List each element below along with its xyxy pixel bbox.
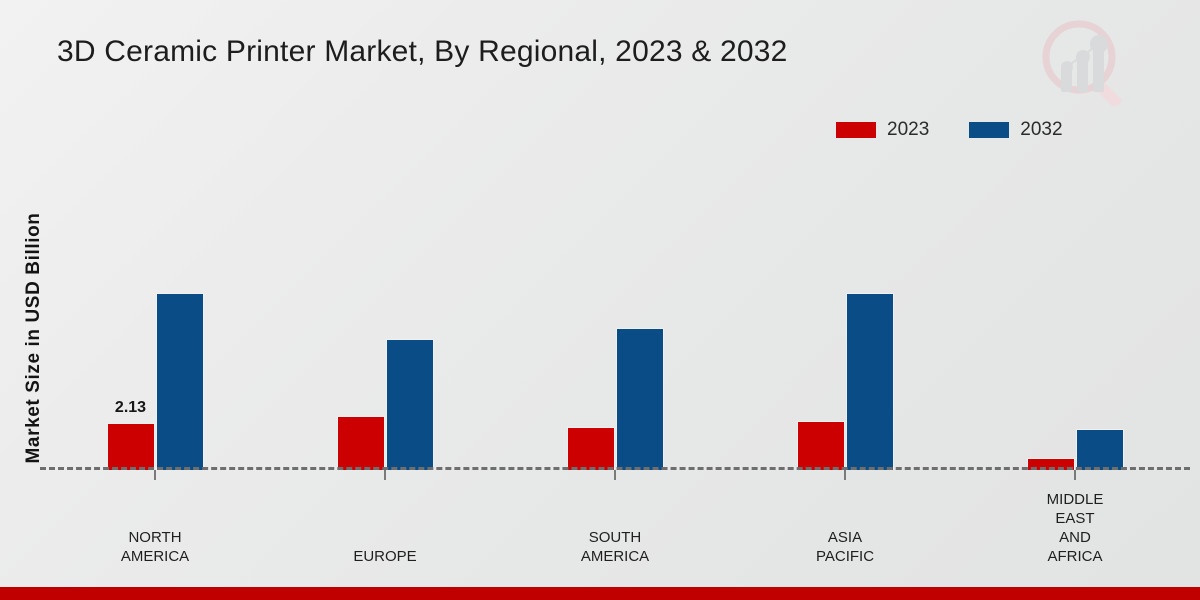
x-label-line: EUROPE (300, 547, 470, 566)
x-axis-tick (1074, 470, 1076, 480)
legend-item-2032[interactable]: 2032 (969, 120, 1062, 139)
plot-area: 2.13 NORTH AMERICA EUROPE (40, 150, 1190, 470)
x-axis-tick (384, 470, 386, 480)
bar-group-asia-pacific: ASIA PACIFIC (730, 150, 960, 470)
bar-group-europe: EUROPE (270, 150, 500, 470)
footer-accent-bar (0, 587, 1200, 600)
bar-group-middle-east-and-africa: MIDDLE EAST AND AFRICA (960, 150, 1190, 470)
x-label-line: SOUTH (530, 528, 700, 547)
x-axis-baseline (40, 467, 1190, 470)
bar-2032-south-america[interactable] (616, 328, 664, 470)
bar-2023-europe[interactable] (337, 416, 385, 470)
x-label-south-america: SOUTH AMERICA (530, 528, 700, 566)
company-logo-watermark (1034, 14, 1138, 110)
bar-2032-asia-pacific[interactable] (846, 293, 894, 470)
x-label-line: AMERICA (70, 547, 240, 566)
bar-group-south-america: SOUTH AMERICA (500, 150, 730, 470)
chart-title: 3D Ceramic Printer Market, By Regional, … (57, 35, 788, 69)
bar-2023-north-america[interactable]: 2.13 (107, 423, 155, 470)
legend-swatch-2023 (836, 122, 876, 138)
x-label-europe: EUROPE (300, 547, 470, 566)
x-label-asia-pacific: ASIA PACIFIC (760, 528, 930, 566)
bar-2032-europe[interactable] (386, 339, 434, 470)
x-label-middle-east-and-africa: MIDDLE EAST AND AFRICA (990, 490, 1160, 566)
x-label-north-america: NORTH AMERICA (70, 528, 240, 566)
legend-label-2023: 2023 (887, 120, 929, 139)
legend-swatch-2032 (969, 122, 1009, 138)
x-label-line: AFRICA (990, 547, 1160, 566)
x-axis-tick (154, 470, 156, 480)
bars-asia-pacific (797, 293, 894, 470)
x-label-line: ASIA (760, 528, 930, 547)
chart-canvas: 3D Ceramic Printer Market, By Regional, … (0, 0, 1200, 600)
x-label-line: PACIFIC (760, 547, 930, 566)
x-axis-tick (614, 470, 616, 480)
legend-item-2023[interactable]: 2023 (836, 120, 929, 139)
bars-north-america: 2.13 (107, 293, 204, 470)
bars-south-america (567, 328, 664, 470)
bar-groups: 2.13 NORTH AMERICA EUROPE (40, 150, 1190, 470)
x-label-line: MIDDLE (990, 490, 1160, 509)
legend-label-2032: 2032 (1020, 120, 1062, 139)
bar-value-label: 2.13 (115, 399, 146, 417)
x-label-line: AMERICA (530, 547, 700, 566)
bar-2023-asia-pacific[interactable] (797, 421, 845, 470)
x-axis-tick (844, 470, 846, 480)
bars-europe (337, 339, 434, 470)
bars-middle-east-and-africa (1027, 429, 1124, 470)
x-label-line: NORTH (70, 528, 240, 547)
bar-2023-south-america[interactable] (567, 427, 615, 470)
bar-group-north-america: 2.13 NORTH AMERICA (40, 150, 270, 470)
x-label-line: EAST (990, 509, 1160, 528)
x-label-line: AND (990, 528, 1160, 547)
chart-legend: 2023 2032 (836, 120, 1063, 139)
bar-2032-north-america[interactable] (156, 293, 204, 470)
bar-2032-middle-east-and-africa[interactable] (1076, 429, 1124, 470)
